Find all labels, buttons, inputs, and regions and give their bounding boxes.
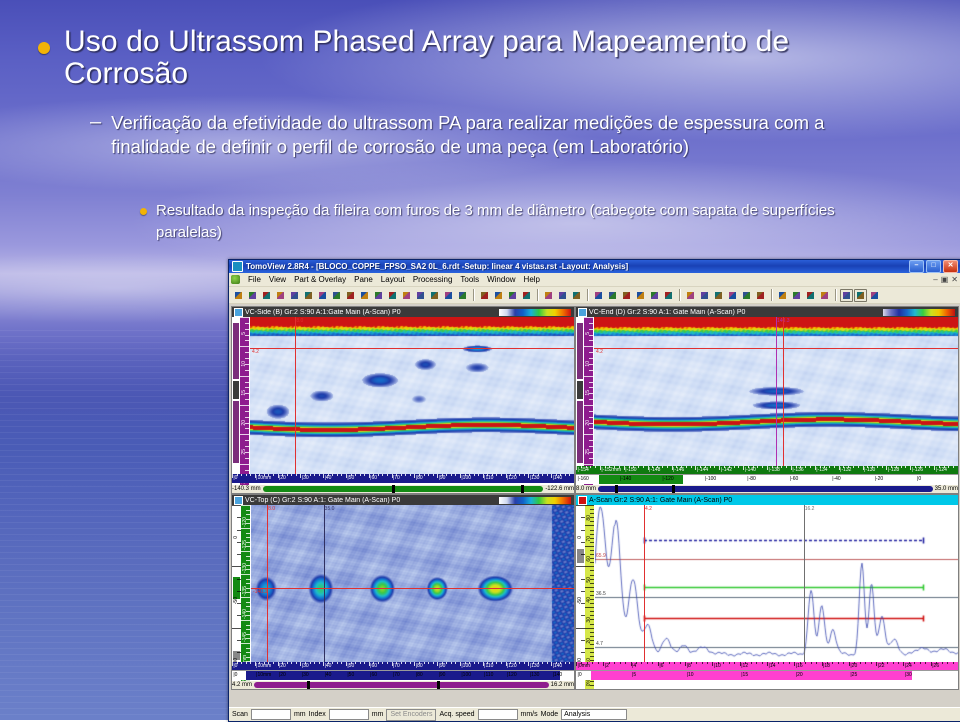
window-controls[interactable]: – □ ✕ [909,260,959,273]
ruler-tick [590,513,594,514]
ruler-tick-label: |70 [393,672,400,678]
ruler-tick-label: |-138 [769,467,780,473]
ruler-tick-label: |20 [796,672,803,678]
ruler-tick [382,474,383,476]
ruler-tick [625,662,626,664]
toolbar-separator [835,289,836,301]
menu-help[interactable]: Help [520,274,544,285]
ruler-tick [751,662,752,664]
ruler-tick [465,474,466,476]
ruler-tick [858,466,859,468]
document-icon [231,275,240,284]
toolbar-separator [473,289,474,301]
ruler-tick [723,662,724,664]
pane-vc-top-titlebar[interactable]: VC-Top (C) Gr:2 S:90 A:1: Gate Main (A-S… [232,495,574,505]
mdi-close-button[interactable]: ✕ [951,275,958,284]
ruler-tick [590,509,594,510]
ruler-tick [296,474,297,476]
ruler-tick [460,662,461,666]
ruler-tick [255,662,256,666]
gate-marker-a [233,323,239,379]
status-acq-label: Acq. speed [439,711,474,718]
ruler-tick [772,466,773,468]
ruler-tick [245,411,249,412]
ruler-tick [246,588,250,589]
ruler-tick-label: |0mm [578,663,590,669]
ruler-tick [848,466,849,468]
scroll-thumb-left[interactable] [307,681,310,689]
cursor-position-label: 4.2 [596,349,603,355]
vc-top-scroll[interactable]: 4.2 mm 16.2 mm [232,681,574,689]
tv-icon[interactable] [260,289,273,302]
ruler-tick [232,662,233,666]
ruler-tick [246,652,250,653]
ruler-tick-label: |30 [302,672,309,678]
maximize-button[interactable]: □ [926,260,941,273]
ruler-tick [246,556,250,557]
snapshot-icon[interactable] [288,289,301,302]
cursor-line-vertical[interactable] [267,505,268,662]
ruler-tick-label: |-126 [912,467,923,473]
gate-icon[interactable] [620,289,633,302]
scroll-thumb-right[interactable] [437,681,440,689]
ruler-tick-label: |10mm [256,672,271,678]
ruler-tick [565,474,566,476]
vc-top-cscan-image[interactable]: 8.035.0-140.3 [251,505,574,662]
ruler-tick [483,662,484,666]
main-toolbar[interactable] [229,287,960,304]
menu-layout[interactable]: Layout [377,274,409,285]
ruler-tick [428,662,429,664]
ruler-tick [939,466,940,468]
chart-icon[interactable] [302,289,315,302]
ruler-tick [820,466,821,468]
ruler-tick [641,662,642,664]
menu-part-overlay[interactable]: Part & Overlay [290,274,350,285]
open-icon[interactable] [648,289,661,302]
scroll-thumb-right[interactable] [672,485,675,493]
contrast-icon[interactable] [456,289,469,302]
ruler-tick [585,546,594,547]
ruler-tick [584,376,593,377]
ruler-tick [240,434,249,435]
ruler-tick [662,466,663,468]
ruler-tick [245,329,249,330]
ruler-tick [631,662,632,666]
gate-marker-b [233,381,239,399]
dim-icon[interactable] [662,289,675,302]
ruler-tick [584,434,593,435]
menu-processing[interactable]: Processing [409,274,457,285]
ruler-tick [296,662,297,664]
ruler-tick [538,474,539,476]
ruler-tick [556,662,557,664]
ruler-tick [396,662,397,664]
ruler-tick [860,662,861,664]
ruler-tick [300,474,301,478]
ruler-tick [590,619,594,620]
ruler-tick [245,399,249,400]
briefcase-icon[interactable] [442,289,455,302]
mdi-window-controls[interactable]: – ▣ ✕ [933,275,960,284]
warn-icon[interactable] [776,289,789,302]
ruler-tick [685,662,686,666]
text-tool-icon[interactable] [414,289,427,302]
tomoview-application-window[interactable]: TomoView 2.8R4 - [BLOCO_COPPE_FPSO_SA2 0… [228,259,960,722]
ruler-tick [643,466,644,468]
bullet-dash-icon: – [90,112,101,132]
ruler-tick [240,376,249,377]
status-mode-label: Mode [541,711,559,718]
ruler-tick [805,466,806,468]
vc-side-scroll[interactable]: -140.3 mm -122.6 mm [232,485,574,493]
ruler-tick [246,474,247,476]
ruler-tick [871,662,872,664]
ruler-tick [246,583,250,584]
bullet-level3: Resultado da inspeção da fileira com fur… [140,200,900,244]
ruler-tick-label: |-140 [620,476,631,482]
ruler-tick [691,662,692,664]
pane-vc-end[interactable]: VC-End (D) Gr:2 S:90 A:1: Gate Main (A-S… [575,306,959,494]
vc-end-scrollbar[interactable] [598,486,933,492]
ruler-tick-label: |120 [507,672,517,678]
bullet-level1: Uso do Ultrassom Phased Array para Mapea… [38,26,918,90]
ruler-tick [455,474,456,476]
ruler-tick [633,466,634,468]
ruler-tick [762,662,763,664]
ruler-tick [800,466,801,468]
info-icon[interactable] [868,289,881,302]
ruler-tick [487,662,488,664]
ruler-tick [337,662,338,664]
menubar[interactable]: File View Part & Overlay Pane Layout Pro… [229,273,960,287]
ruler-tick [695,466,696,470]
layout-grid-icon[interactable] [570,289,583,302]
ruler-tick [501,662,502,664]
ruler-tick [246,519,250,520]
ruler-tick [767,662,768,666]
ruler-tick [533,662,534,664]
ruler-tick [291,474,292,476]
ruler-tick [369,662,370,666]
ruler-tick [886,466,887,470]
ruler-tick [896,466,897,468]
status-scan-label: Scan [232,711,248,718]
ruler-tick [442,474,443,476]
ruler-tick [691,466,692,468]
ruler-tick [245,446,249,447]
table1-icon[interactable] [684,289,697,302]
ruler-tick-label: |-160 [578,476,589,482]
ruler-tick [909,662,910,664]
ruler-tick [305,662,306,664]
histogram-icon[interactable] [330,289,343,302]
ruler-tick [576,466,577,470]
table5-icon[interactable] [740,289,753,302]
ruler-tick [246,611,250,612]
ruler-tick [590,591,594,592]
ruler-tick [590,558,594,559]
ruler-tick [245,470,249,471]
bullet-level2-text: Verificação da efetividade do ultrassom … [111,111,890,160]
ruler-tick [547,474,548,476]
ruler-tick [506,474,507,478]
monitor-icon[interactable] [506,289,519,302]
ruler-tick [942,662,943,664]
ruler-tick [245,440,249,441]
ruler-tick-label: |130 [530,672,540,678]
key-icon[interactable] [478,289,491,302]
mdi-minimize-button[interactable]: – [933,275,937,284]
ruler-tick [245,340,249,341]
ruler-tick [241,597,250,598]
ruler-tick-label: |50 [347,672,354,678]
scroll-thumb-right[interactable] [521,485,524,493]
ruler-tick [245,323,249,324]
ruler-tick [590,562,594,563]
table4-icon[interactable] [726,289,739,302]
ruler-tick [515,474,516,476]
ruler-tick [341,662,342,664]
ruler-tick [877,466,878,468]
status-index-value[interactable] [329,709,369,720]
minimize-button[interactable]: – [909,260,924,273]
ruler-tick [590,583,594,584]
ruler-tick-label: |-140 [745,467,756,473]
ruler-tick-label: |30 [905,672,912,678]
ruler-tick-label: |-148 [649,467,660,473]
layout-h-icon[interactable] [542,289,555,302]
gate-threshold-label: 36.5 [596,591,606,597]
ruler-tick [791,466,792,470]
camera-icon[interactable] [372,289,385,302]
pane-icon [234,308,243,317]
ruler-tick [590,466,591,468]
ruler-tick [528,662,529,666]
status-scan-value[interactable] [251,709,291,720]
link-icon[interactable] [358,289,371,302]
table6-icon[interactable] [754,289,767,302]
status-bar: Scan mm Index mm Set Encoders Acq. speed… [229,707,960,721]
ruler-tick [446,474,447,476]
status-acq-value[interactable] [478,709,518,720]
status-index-label: Index [309,711,326,718]
cursor-position-label: 8.0 [268,506,275,512]
ruler1-icon[interactable] [840,289,853,302]
zoom-out-icon[interactable] [818,289,831,302]
cursor-line-vertical[interactable] [324,505,325,662]
delete-x-icon[interactable] [606,289,619,302]
split-view-icon[interactable] [246,289,259,302]
ruler-tick [589,335,593,336]
ruler-tick [589,399,593,400]
ruler-tick-label: |0 [233,672,237,678]
ruler-tick [657,466,658,468]
ruler-tick-label: |90 [439,672,446,678]
ruler-tick [551,474,552,478]
ruler-tick [246,615,250,616]
pane-vc-end-titlebar[interactable]: VC-End (D) Gr:2 S:90 A:1: Gate Main (A-S… [576,307,958,317]
wave-icon[interactable] [344,289,357,302]
ruler-tick [401,474,402,476]
vc-side-scrollbar[interactable] [263,486,544,492]
zoom-in-icon[interactable] [804,289,817,302]
ruler-tick [590,681,594,682]
pane-a-scan[interactable]: A-Scan Gr:2 S:90 A:1: Gate Main (A-Scan)… [575,494,959,690]
cursor-line-vertical[interactable] [776,317,777,474]
cursor-line-horizontal[interactable] [250,348,574,349]
close-button[interactable]: ✕ [943,260,958,273]
vc-top-scrollbar[interactable] [254,682,549,688]
ruler-tick [496,662,497,664]
ruler-tick [915,466,916,468]
ruler-tick [953,466,954,468]
vc-side-scroll-min: -140.3 mm [232,486,261,492]
ruler-tick [246,514,250,515]
ruler-tick [246,629,250,630]
vc-end-dscan-image[interactable]: 140.34.2 [594,317,958,474]
ruler-tick [355,662,356,664]
ruler-tick [542,474,543,476]
ruler-tick-label: |-132 [840,467,851,473]
ruler-tick [414,474,415,478]
mdi-restore-button[interactable]: ▣ [941,275,949,284]
ruler-tick [777,466,778,468]
set-encoders-button[interactable]: Set Encoders [386,709,436,721]
ruler-tick [528,474,529,478]
ruler-tick [914,662,915,664]
pane-vc-side[interactable]: VC-Side (B) Gr:2 S:90 A:1:Gate Main (A-S… [231,306,575,494]
ruler-tick-label: |40 [325,672,332,678]
vc-top-scroll-min: 4.2 mm [232,682,252,688]
amplitude-colorbar [499,497,571,504]
color-wheel-icon[interactable] [400,289,413,302]
ruler-tick [585,607,594,608]
ruler-tick [487,474,488,476]
ruler-tick [863,466,864,470]
ruler-tick [589,329,593,330]
ruler2-icon[interactable] [854,289,867,302]
ruler-tick [245,393,249,394]
pane-icon [578,496,587,505]
pane-vc-side-titlebar[interactable]: VC-Side (B) Gr:2 S:90 A:1:Gate Main (A-S… [232,307,574,317]
ruler-tick-label: |-136 [792,467,803,473]
ruler-tick [740,662,741,666]
cursor-line-vertical[interactable] [644,505,645,662]
cursor-line-vertical[interactable] [804,505,805,662]
ruler-tick-label: |-40 [832,476,841,482]
ruler-tick [590,570,594,571]
ruler-tick [629,466,630,468]
ruler-tick [246,510,250,511]
menu-pane[interactable]: Pane [350,274,377,285]
overview-window-marker[interactable] [591,671,912,680]
ruler-tick [712,662,713,666]
ruler-tick [585,628,594,629]
ruler-tick [718,662,719,664]
ruler-tick [515,662,516,664]
menu-file[interactable]: File [244,274,265,285]
ruler-tick [584,464,593,465]
cursor-line-horizontal[interactable] [251,588,574,589]
ruler-tick [910,466,911,470]
cursor-line-vertical[interactable] [295,317,296,474]
ruler-tick [465,662,466,664]
menu-tools[interactable]: Tools [456,274,483,285]
ruler-tick [905,466,906,468]
toolbar-separator [537,289,538,301]
menu-window[interactable]: Window [483,274,519,285]
ruler-tick [246,657,250,658]
ruler-tick [287,662,288,664]
ruler-tick [273,662,274,664]
ruler-tick [246,569,250,570]
table3-icon[interactable] [712,289,725,302]
ruler-tick [724,466,725,468]
ruler-tick [767,466,768,470]
warn2-icon[interactable] [790,289,803,302]
window-titlebar[interactable]: TomoView 2.8R4 - [BLOCO_COPPE_FPSO_SA2 0… [229,260,960,273]
caret-icon[interactable] [386,289,399,302]
status-mode-value: Analysis [561,709,627,720]
menu-view[interactable]: View [265,274,290,285]
vc-end-scroll[interactable]: 8.0 mm 35.0 mm [576,485,958,493]
ruler-tick [387,662,388,664]
cursor-line-vertical[interactable] [783,317,784,474]
table2-icon[interactable] [698,289,711,302]
close-x-icon[interactable] [592,289,605,302]
ruler-tick [620,662,621,664]
ruler-tick [319,662,320,664]
ruler-tick [590,624,594,625]
zoomfit-icon[interactable] [634,289,647,302]
ruler-tick [778,662,779,664]
ruler-tick [745,662,746,664]
cursor-position-label: 4.2 [252,349,259,355]
ultrasonic-scan-canvas [595,505,958,662]
ruler-tick [387,474,388,476]
ruler-tick [273,474,274,476]
paint-icon[interactable] [428,289,441,302]
wand-icon[interactable] [520,289,533,302]
ruler-tick [585,648,594,649]
line-icon[interactable] [492,289,505,302]
ruler-tick [680,662,681,664]
scroll-thumb-left[interactable] [615,485,618,493]
target-icon[interactable] [274,289,287,302]
ruler-tick-label: |15 [741,672,748,678]
window-icon[interactable] [232,289,245,302]
pane-container: VC-Side (B) Gr:2 S:90 A:1:Gate Main (A-S… [229,304,960,708]
status-scan-unit: mm [294,711,306,718]
ruler-tick [323,662,324,666]
a-scan-waveform-plot[interactable]: 4.216.265.936.54.7 [595,505,958,662]
bar-chart-icon[interactable] [316,289,329,302]
layout-v-icon[interactable] [556,289,569,302]
pane-vc-top[interactable]: VC-Top (C) Gr:2 S:90 A:1: Gate Main (A-S… [231,494,575,690]
ruler-tick [451,474,452,476]
ruler-tick [757,466,758,468]
pane-a-scan-title: A-Scan Gr:2 S:90 A:1: Gate Main (A-Scan)… [589,497,956,504]
ruler-tick [800,662,801,664]
pane-a-scan-titlebar[interactable]: A-Scan Gr:2 S:90 A:1: Gate Main (A-Scan)… [576,495,958,505]
vc-side-bscan-image[interactable]: 8.04.2 [250,317,574,474]
ruler-tick [246,523,250,524]
ruler-tick [796,466,797,468]
cursor-line-horizontal[interactable] [594,348,958,349]
ruler-tick [245,382,249,383]
scroll-thumb-left[interactable] [392,485,395,493]
